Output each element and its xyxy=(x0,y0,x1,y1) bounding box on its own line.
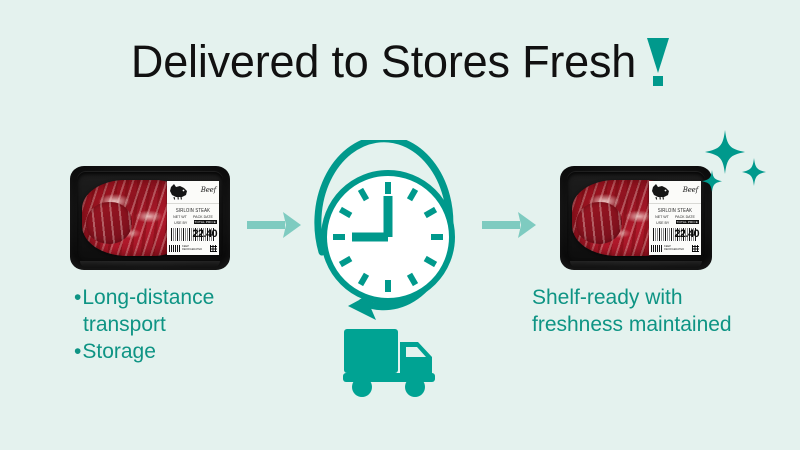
meat-package-after: Beef SIRLOIN STEAK NET WT PACK DATE USE … xyxy=(560,166,712,270)
caption-after-line-2: freshness maintained xyxy=(532,312,782,339)
exclamation-mark-icon xyxy=(647,38,669,86)
price-label: Beef SIRLOIN STEAK NET WT PACK DATE USE … xyxy=(167,181,219,255)
price-caption: TOTAL PRICE xyxy=(676,220,699,224)
label-footer-note: KEEP REFRIGERATED xyxy=(182,245,208,252)
caption-after-line-1: Shelf-ready with xyxy=(532,285,782,312)
cow-icon xyxy=(169,183,189,200)
caption-line-transport-text: Long-distance transport xyxy=(82,286,214,336)
caption-line-transport: •Long-distance transport xyxy=(74,285,294,339)
price-value: 22.40 xyxy=(192,229,217,240)
caption-after: Shelf-ready with freshness maintained xyxy=(532,285,782,339)
arrow-right-icon-1 xyxy=(247,208,303,242)
label-footer-note: KEEP REFRIGERATED xyxy=(664,245,690,252)
qr-code-icon xyxy=(692,245,699,252)
sparkle-large xyxy=(705,130,745,174)
infographic-canvas: Delivered to Stores Fresh Beef SIRLOIN S… xyxy=(0,0,800,450)
clock-icon xyxy=(296,140,476,325)
beef-fold xyxy=(576,202,622,244)
label-brand-text: Beef xyxy=(201,186,216,194)
caption-line-storage-text: Storage xyxy=(82,340,156,363)
caption-line-storage: •Storage xyxy=(74,339,294,366)
sparkle-small xyxy=(702,170,722,192)
cow-icon xyxy=(651,183,671,200)
price-label: Beef SIRLOIN STEAK NET WT PACK DATE USE … xyxy=(649,181,701,255)
label-field-use-by: USE BY xyxy=(656,221,669,225)
label-brand-header: Beef xyxy=(167,181,219,204)
qr-code-icon xyxy=(210,245,217,252)
sparkle-medium xyxy=(742,158,766,186)
label-footer-mark xyxy=(651,245,662,252)
price-caption: TOTAL PRICE xyxy=(194,220,217,224)
page-title-text: Delivered to Stores Fresh xyxy=(131,39,636,84)
page-title: Delivered to Stores Fresh xyxy=(0,26,800,96)
label-footer-mark xyxy=(169,245,180,252)
label-brand-header: Beef xyxy=(649,181,701,204)
price-block: TOTAL PRICE 22.40 xyxy=(192,210,217,240)
beef-fold xyxy=(86,202,132,244)
delivery-truck-icon xyxy=(340,325,445,397)
price-value: 22.40 xyxy=(674,229,699,240)
label-field-use-by: USE BY xyxy=(174,221,187,225)
price-block: TOTAL PRICE 22.40 xyxy=(674,210,699,240)
arrow-right-icon-2 xyxy=(482,208,538,242)
caption-before: •Long-distance transport •Storage xyxy=(74,285,294,366)
label-footer: KEEP REFRIGERATED xyxy=(651,243,699,253)
label-footer: KEEP REFRIGERATED xyxy=(169,243,217,253)
sparkle-stars-icon xyxy=(695,124,775,198)
meat-package-before: Beef SIRLOIN STEAK NET WT PACK DATE USE … xyxy=(70,166,230,270)
